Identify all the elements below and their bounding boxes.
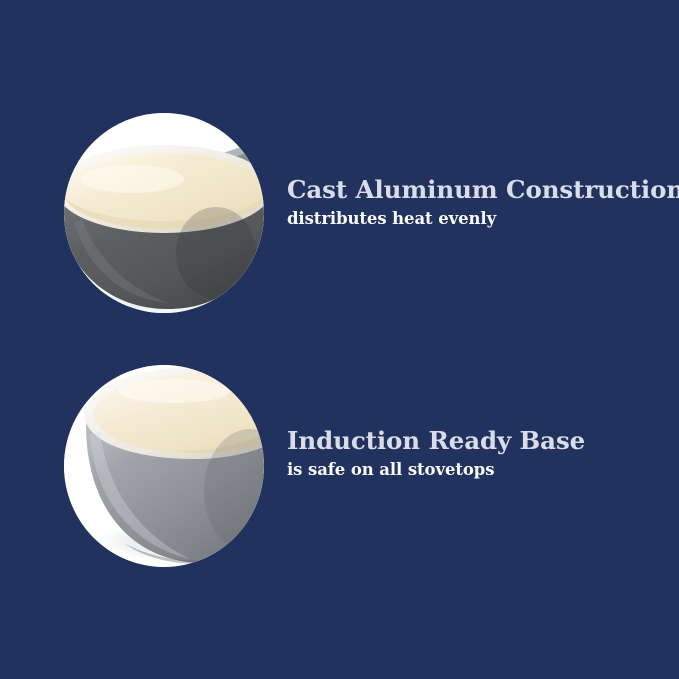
feature-title: Cast Aluminum Construction	[287, 177, 657, 203]
saucepan-interior-illustration	[64, 113, 264, 313]
feature-infographic: Cast Aluminum Construction distributes h…	[0, 0, 679, 679]
saucepan-interior-photo	[64, 113, 264, 313]
saucepan-base-illustration	[64, 365, 264, 567]
feature-text-block: Induction Ready Base is safe on all stov…	[287, 428, 657, 479]
feature-text-block: Cast Aluminum Construction distributes h…	[287, 177, 657, 228]
feature-title: Induction Ready Base	[287, 428, 657, 454]
feature-subtitle: is safe on all stovetops	[287, 461, 657, 479]
saucepan-base-photo	[64, 365, 264, 567]
feature-row: Cast Aluminum Construction distributes h…	[0, 113, 679, 313]
feature-subtitle: distributes heat evenly	[287, 210, 657, 228]
feature-row: Induction Ready Base is safe on all stov…	[0, 365, 679, 567]
